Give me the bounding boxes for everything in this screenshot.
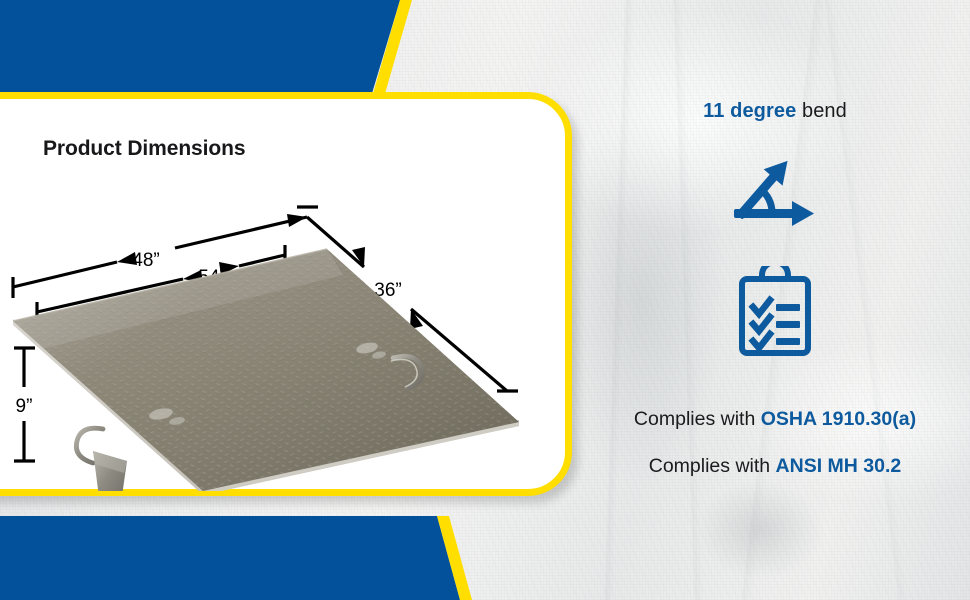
plate-handle-left (76, 428, 127, 491)
clipboard-checklist-icon-svg (735, 266, 815, 358)
blue-panel-top (0, 0, 430, 100)
dock-plate-illustration (7, 239, 579, 491)
dimension-label-48: 48” (132, 250, 159, 271)
bend-spec-text: 11 degree bend (580, 100, 970, 123)
angle-bend-icon (580, 152, 970, 233)
compliance-ansi-standard: ANSI MH 30.2 (776, 455, 902, 477)
compliance-osha-prefix: Complies with (634, 408, 761, 430)
bend-spec-rest: bend (796, 100, 847, 122)
angle-bend-icon-svg (732, 152, 818, 228)
product-dimension-drawing: 48” 54” 36” 9” (7, 99, 579, 491)
bend-spec-highlight: 11 degree (703, 100, 796, 122)
features-column: 11 degree bend (580, 0, 970, 600)
compliance-ansi: Complies with ANSI MH 30.2 (580, 455, 970, 478)
compliance-osha-standard: OSHA 1910.30(a) (761, 408, 916, 430)
dimension-label-9: 9” (16, 396, 33, 417)
clipboard-checklist-icon (580, 266, 970, 363)
dimension-diagram-svg: 48” 54” 36” 9” (7, 99, 579, 491)
compliance-osha: Complies with OSHA 1910.30(a) (580, 408, 970, 431)
compliance-ansi-prefix: Complies with (649, 455, 776, 477)
blue-panel-bottom (0, 516, 470, 600)
promo-banner: Product Dimensions (0, 0, 970, 600)
product-dimensions-card: Product Dimensions (0, 92, 572, 496)
